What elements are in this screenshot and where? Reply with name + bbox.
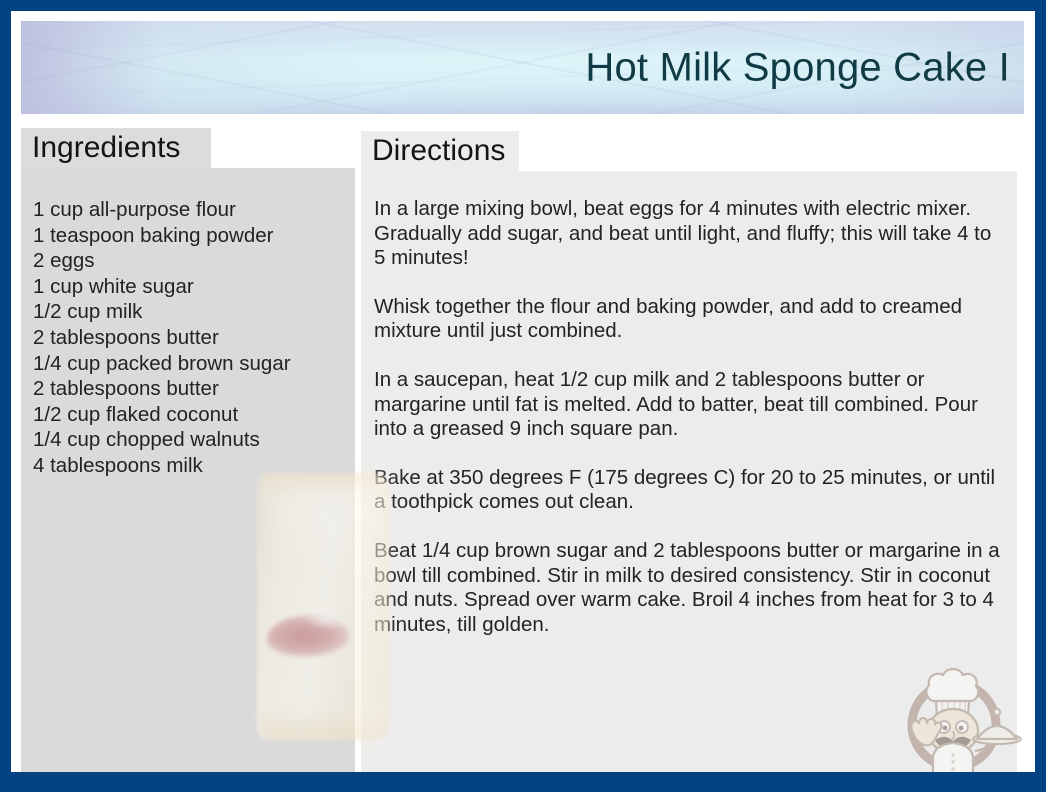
ingredient-item: 2 eggs <box>33 248 343 274</box>
ingredient-item: 2 tablespoons butter <box>33 325 343 351</box>
chef-with-serving-dome-logo <box>897 655 1023 772</box>
ingredient-item: 1/2 cup flaked coconut <box>33 402 343 428</box>
recipe-title: Hot Milk Sponge Cake I <box>585 45 1010 90</box>
recipe-page: Hot Milk Sponge Cake I Ingredients Direc… <box>11 11 1035 772</box>
ingredient-item: 1 cup white sugar <box>33 274 343 300</box>
ingredient-item: 4 tablespoons milk <box>33 453 343 479</box>
header-banner: Hot Milk Sponge Cake I <box>21 21 1024 114</box>
ingredient-item: 1 teaspoon baking powder <box>33 223 343 249</box>
ingredient-item: 1 cup all-purpose flour <box>33 197 343 223</box>
ingredient-item: 1/4 cup packed brown sugar <box>33 351 343 377</box>
ingredients-list: 1 cup all-purpose flour 1 teaspoon bakin… <box>33 197 343 479</box>
direction-step: In a saucepan, heat 1/2 cup milk and 2 t… <box>374 368 1003 442</box>
ingredients-panel: 1 cup all-purpose flour 1 teaspoon bakin… <box>21 168 355 772</box>
directions-heading: Directions <box>361 131 519 171</box>
direction-step: In a large mixing bowl, beat eggs for 4 … <box>374 197 1003 271</box>
ingredient-item: 1/2 cup milk <box>33 299 343 325</box>
direction-step: Beat 1/4 cup brown sugar and 2 tablespoo… <box>374 539 1003 637</box>
ingredient-item: 2 tablespoons butter <box>33 376 343 402</box>
recipe-card: Hot Milk Sponge Cake I Ingredients Direc… <box>0 0 1046 792</box>
direction-step: Bake at 350 degrees F (175 degrees C) fo… <box>374 466 1003 515</box>
ingredients-heading: Ingredients <box>21 128 211 168</box>
direction-step: Whisk together the flour and baking powd… <box>374 295 1003 344</box>
ingredient-item: 1/4 cup chopped walnuts <box>33 427 343 453</box>
